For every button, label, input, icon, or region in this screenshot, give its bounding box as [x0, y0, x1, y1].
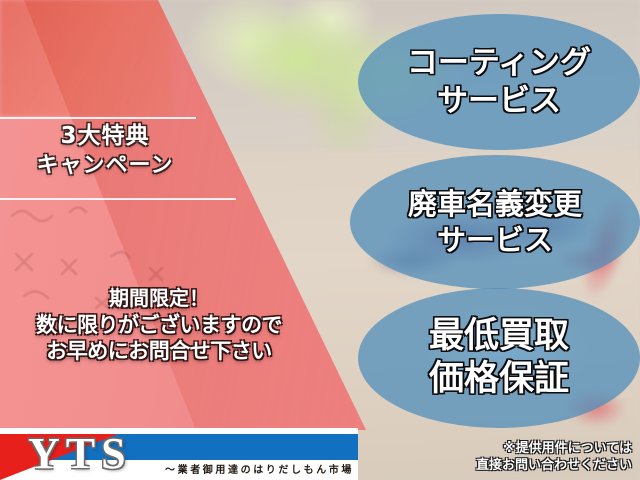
limited-offer-line2: 数に限りがございますので: [0, 312, 318, 339]
service-price-line2: 価格保証: [429, 360, 569, 399]
service-coating-line2: サービス: [437, 84, 561, 119]
benefit-headline: 3大特典 キャンペーン: [0, 124, 210, 178]
service-ellipse-vehicle-transfer: 廃車名義変更 サービス: [350, 155, 640, 289]
divider-rule-top: [0, 117, 196, 119]
service-price-line1: 最低買取: [429, 317, 569, 356]
service-transfer-line1: 廃車名義変更: [408, 188, 582, 220]
limited-offer-line1: 期間限定！: [0, 286, 318, 312]
logo-tagline: 〜業者御用達のはりだしもん市場: [165, 461, 354, 476]
service-transfer-line2: サービス: [437, 224, 553, 256]
benefit-headline-line2: キャンペーン: [0, 154, 210, 178]
divider-rule-bottom: [0, 198, 236, 200]
service-ellipse-price-guarantee: 最低買取 価格保証: [358, 288, 640, 428]
limited-offer-line3: お早めにお問合せ下さい: [0, 338, 318, 365]
disclaimer-line1: ※提供用件については: [476, 440, 632, 457]
disclaimer-note: ※提供用件については 直接お問い合わせください: [476, 440, 632, 474]
campaign-banner: 3大特典 キャンペーン 期間限定！ 数に限りがございますので お早めにお問合せ下…: [0, 0, 640, 480]
service-ellipse-coating: コーティング サービス: [358, 14, 640, 150]
pink-panel-highlight: [0, 0, 170, 116]
benefit-headline-line1: 3大特典: [0, 124, 210, 149]
disclaimer-line2: 直接お問い合わせください: [476, 457, 632, 474]
limited-offer-text: 期間限定！ 数に限りがございますので お早めにお問合せ下さい: [0, 286, 318, 365]
logo-wordmark: YTS: [28, 432, 132, 476]
logo-bar: YTS 〜業者御用達のはりだしもん市場: [0, 428, 358, 480]
service-coating-line1: コーティング: [407, 46, 591, 81]
